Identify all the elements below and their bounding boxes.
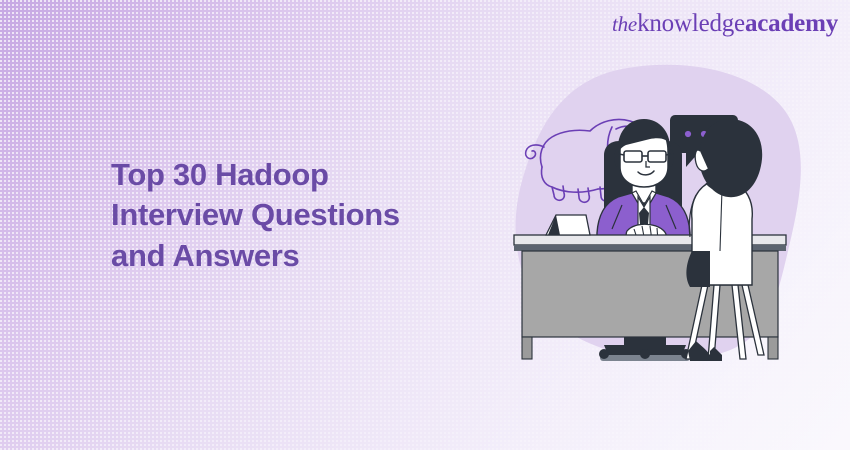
headline-line-2: Interview Questions [111,195,441,235]
brand-logo[interactable]: theknowledgeacademy [612,11,838,36]
interview-illustration [500,55,850,375]
logo-knowledge: knowledge [637,10,745,37]
headline-line-1: Top 30 Hadoop [111,155,441,195]
promo-banner: theknowledgeacademy Top 30 Hadoop Interv… [0,0,850,450]
logo-academy: academy [745,10,838,37]
logo-the: the [612,12,637,36]
page-title: Top 30 Hadoop Interview Questions and An… [111,155,441,276]
speech-dot-1 [685,131,691,137]
headline-line-3: and Answers [111,236,441,276]
